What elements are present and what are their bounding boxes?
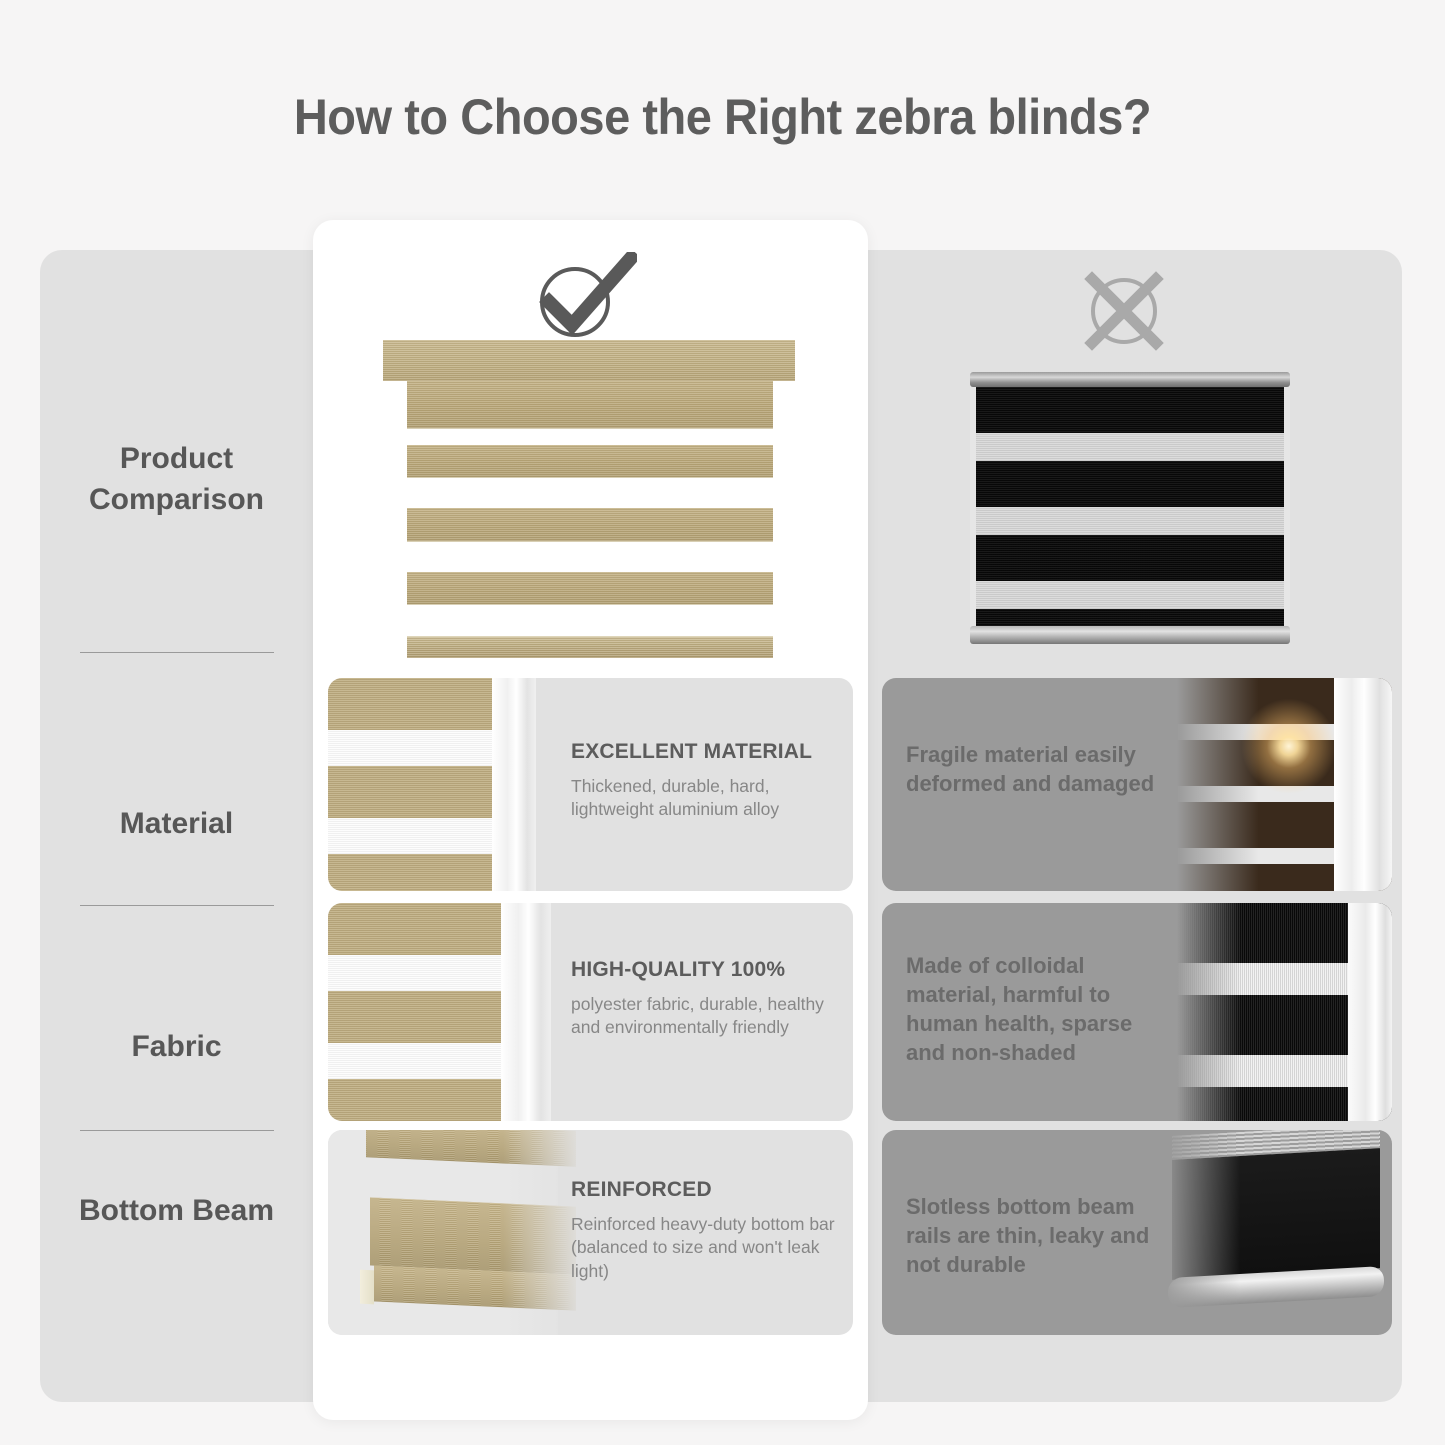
card-text: Slotless bottom beam rails are thin, lea…: [906, 1192, 1156, 1279]
card-body: Reinforced heavy-duty bottom bar (balanc…: [571, 1213, 846, 1283]
row-label-material: Material: [40, 803, 313, 844]
row-label-fabric: Fabric: [40, 1026, 313, 1067]
card-body: Thickened, durable, hard, lightweight al…: [571, 775, 836, 822]
sheer-band: [1172, 1130, 1380, 1164]
hero-product-good: [383, 340, 795, 670]
row-divider-1: [80, 652, 274, 653]
row-label-bottom-beam: Bottom Beam: [40, 1190, 313, 1231]
black-fabric: [1172, 1148, 1380, 1280]
row-label-column: Product Comparison Material Fabric Botto…: [40, 250, 313, 1402]
row-divider-2: [80, 905, 274, 906]
blind-slat: [407, 508, 773, 542]
sun-flare-light-leak-image: [1177, 678, 1392, 891]
card-fabric-good: HIGH-QUALITY 100% polyester fabric, dura…: [328, 903, 853, 1121]
beam-end-cap: [360, 1270, 374, 1305]
tan-fabric-stripes-image: [328, 903, 503, 1121]
card-material-bad: Fragile material easily deformed and dam…: [882, 678, 1392, 891]
card-material-good: EXCELLENT MATERIAL Thickened, durable, h…: [328, 678, 853, 891]
blind-slat: [407, 381, 773, 429]
card-bottom-beam-good: REINFORCED Reinforced heavy-duty bottom …: [328, 1130, 853, 1335]
thin-silver-bottom-rail-image: [1162, 1130, 1392, 1335]
card-text-block: HIGH-QUALITY 100% polyester fabric, dura…: [571, 958, 841, 1040]
card-heading: HIGH-QUALITY 100%: [571, 958, 841, 982]
page-title: How to Choose the Right zebra blinds?: [43, 88, 1401, 146]
blind-fabric: [976, 387, 1284, 626]
row-divider-3: [80, 1130, 274, 1131]
card-heading: REINFORCED: [571, 1178, 846, 1202]
card-bottom-beam-bad: Slotless bottom beam rails are thin, lea…: [882, 1130, 1392, 1335]
headrail: [970, 372, 1290, 387]
headrail: [383, 340, 795, 381]
card-heading: EXCELLENT MATERIAL: [571, 740, 836, 764]
row-label-product-comparison: Product Comparison: [40, 438, 313, 521]
bottom-rail: [970, 626, 1290, 644]
blind-slat: [407, 572, 773, 605]
card-text: Fragile material easily deformed and dam…: [906, 740, 1156, 798]
card-body: polyester fabric, durable, healthy and e…: [571, 993, 841, 1040]
blind-slat: [407, 445, 773, 478]
bottom-bar: [407, 636, 773, 658]
hero-product-bad: [970, 372, 1290, 644]
card-text: Made of colloidal material, harmful to h…: [906, 951, 1164, 1067]
infographic-page: How to Choose the Right zebra blinds? Pr…: [0, 0, 1445, 1445]
black-white-sheer-fabric-image: [1177, 903, 1392, 1121]
card-text-block: REINFORCED Reinforced heavy-duty bottom …: [571, 1178, 846, 1283]
thin-bottom-rail: [1168, 1266, 1384, 1308]
card-text-block: EXCELLENT MATERIAL Thickened, durable, h…: [571, 740, 836, 822]
x-circle-icon: [1078, 268, 1170, 354]
check-circle-icon: [527, 252, 637, 342]
card-fabric-bad: Made of colloidal material, harmful to h…: [882, 903, 1392, 1121]
